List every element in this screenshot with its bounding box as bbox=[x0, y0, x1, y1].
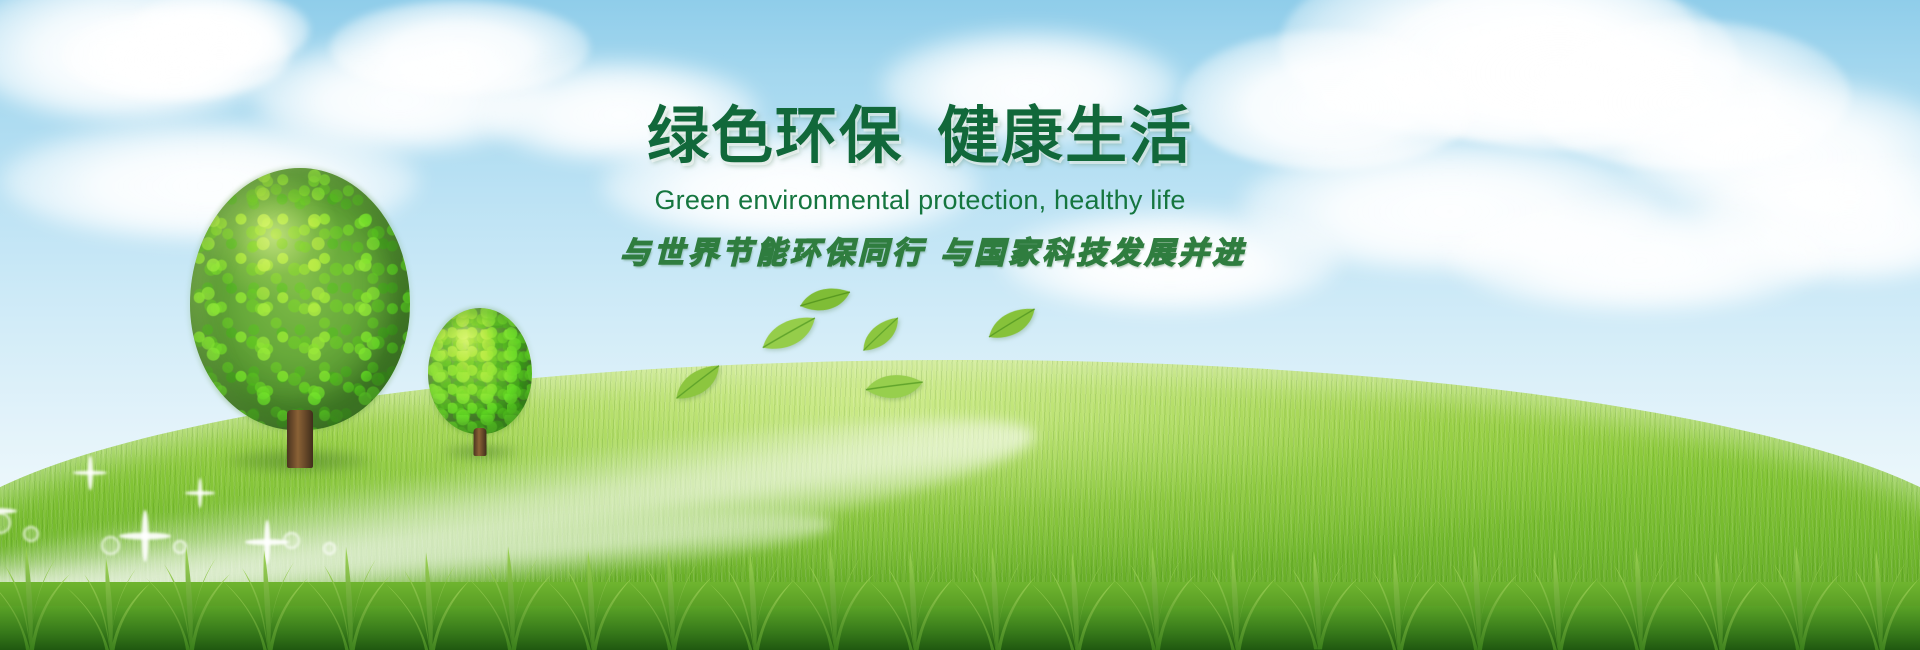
subtitle-english: Green environmental protection, healthy … bbox=[620, 185, 1220, 216]
tagline-calligraphy: 与世界节能环保同行 与国家科技发展并进 bbox=[620, 228, 1220, 272]
headline-part-2: 健康生活 bbox=[937, 102, 1193, 171]
large-tree bbox=[190, 168, 410, 468]
leaf-icon bbox=[799, 283, 852, 316]
small-tree bbox=[428, 308, 532, 456]
page-title: 绿色环保健康生活 bbox=[620, 104, 1220, 169]
eco-banner: 绿色环保健康生活 Green environmental protection,… bbox=[0, 0, 1920, 650]
headline-group: 绿色环保健康生活 Green environmental protection,… bbox=[620, 104, 1220, 272]
grass-border bbox=[0, 530, 1920, 650]
headline-part-1: 绿色环保 bbox=[647, 102, 903, 171]
